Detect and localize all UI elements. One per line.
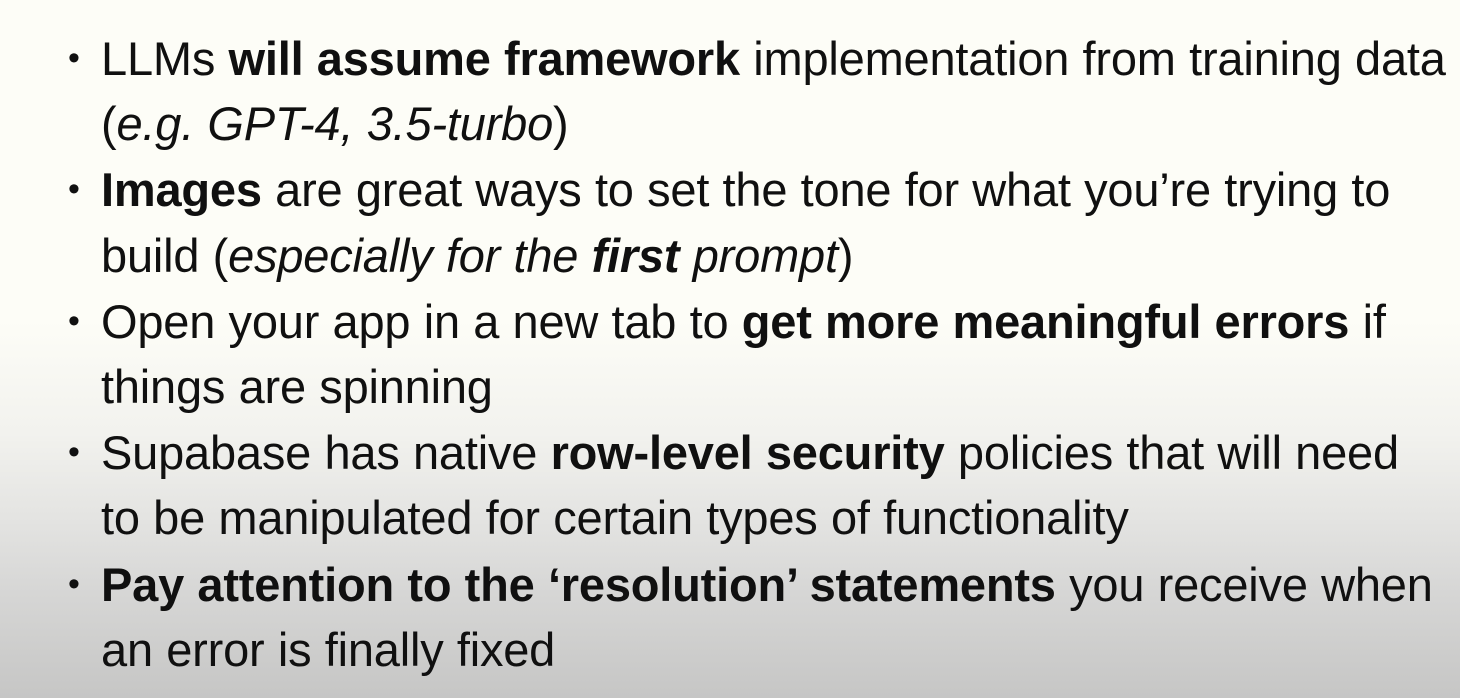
list-item: • Open your app in a new tab to get more… [0,289,1460,419]
bullet-text: LLMs will assume framework implementatio… [101,26,1446,156]
bullet-point-icon: • [68,26,90,91]
text-run: ) [553,97,568,150]
bullet-point-icon: • [68,289,90,354]
bullet-text: Supabase has native row-level security p… [101,420,1446,550]
text-run: row-level security [551,426,945,479]
bullet-list: • LLMs will assume framework implementat… [0,26,1460,683]
bullet-point-icon: • [68,552,90,617]
list-item: • Pay attention to the ‘resolution’ stat… [0,552,1460,682]
text-run: prompt [679,229,837,282]
slide-canvas: • LLMs will assume framework implementat… [0,0,1460,698]
text-run: Open your app in a new tab to [101,295,742,348]
bullet-point-icon: • [68,420,90,485]
bullet-text: Pay attention to the ‘resolution’ statem… [101,552,1446,682]
list-item: • LLMs will assume framework implementat… [0,26,1460,156]
bullet-text: Open your app in a new tab to get more m… [101,289,1446,419]
text-run: Supabase has native [101,426,551,479]
bullet-point-icon: • [68,157,90,222]
text-run: especially for the [228,229,591,282]
text-run: get more meaningful errors [742,295,1349,348]
list-item: • Supabase has native row-level security… [0,420,1460,550]
text-run: e.g. GPT-4, 3.5-turbo [116,97,553,150]
list-item: • Images are great ways to set the tone … [0,157,1460,287]
text-run: Pay attention to the ‘resolution’ statem… [101,558,1056,611]
bullet-text: Images are great ways to set the tone fo… [101,157,1446,287]
text-run: ) [838,229,853,282]
text-run: Images [101,163,262,216]
text-run: will assume framework [229,32,740,85]
text-run: LLMs [101,32,229,85]
text-run: first [592,229,680,282]
